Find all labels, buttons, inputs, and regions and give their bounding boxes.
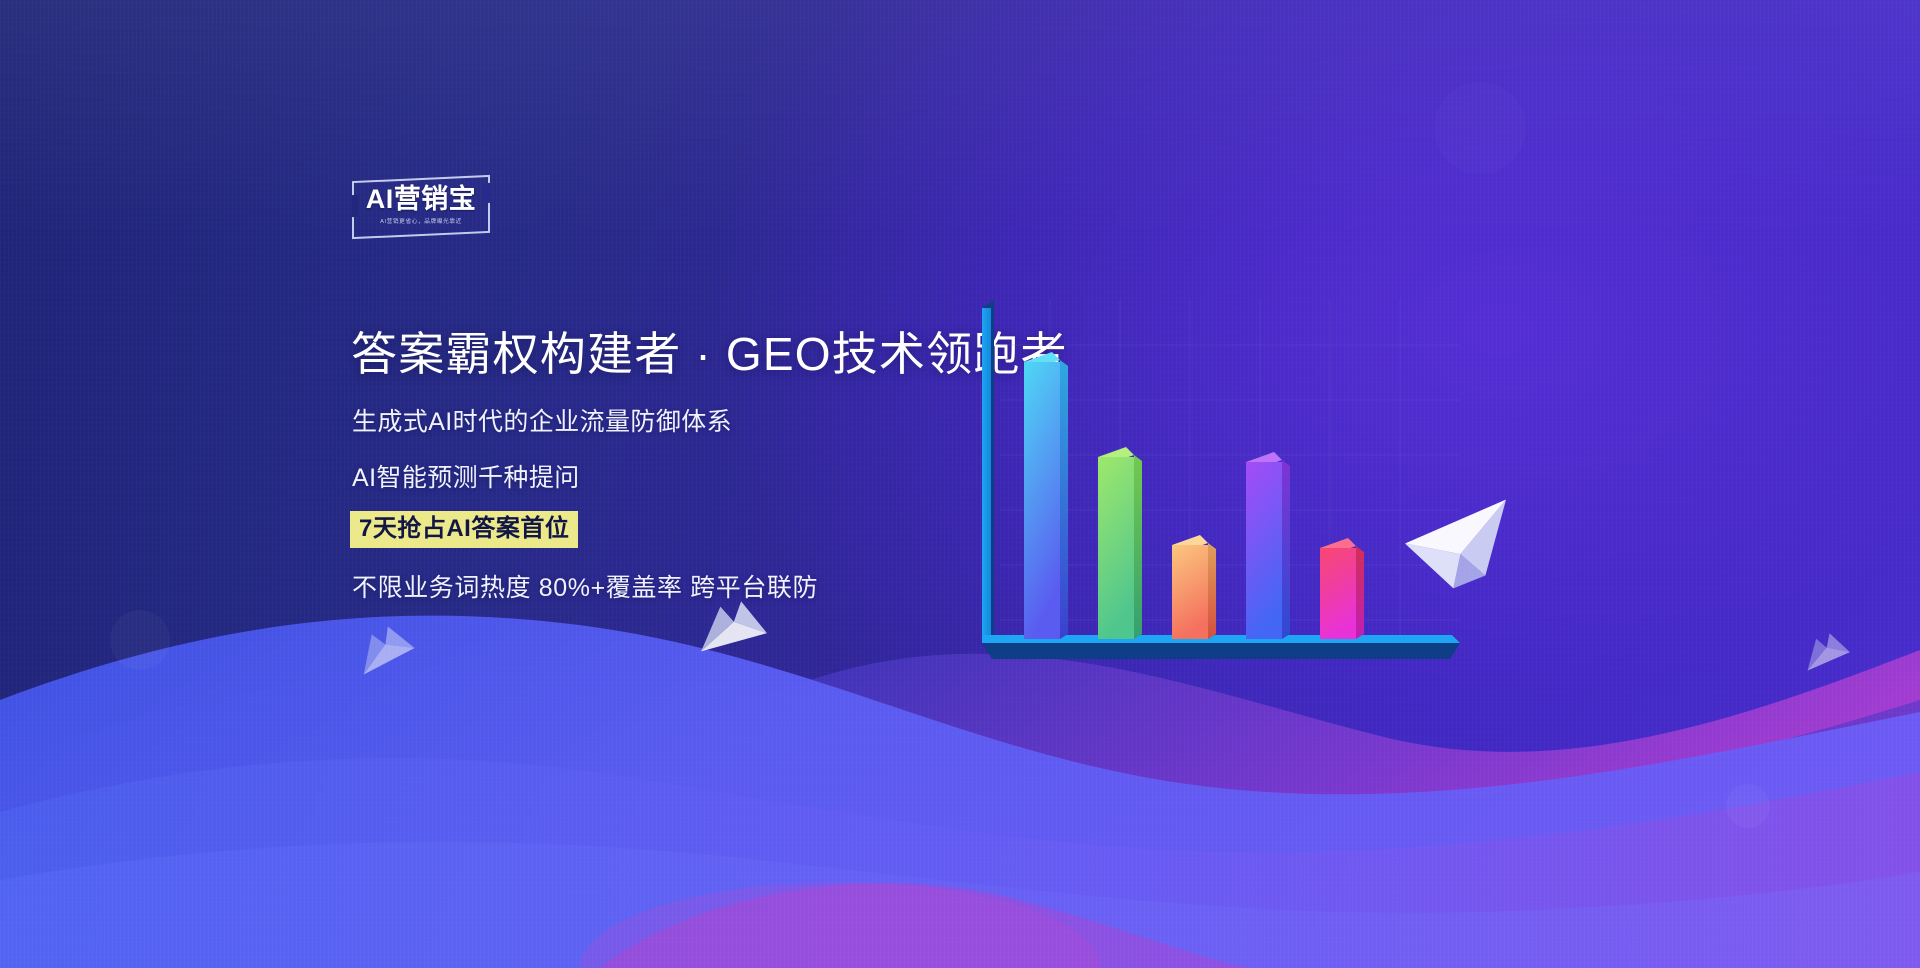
bar-5 bbox=[1320, 538, 1364, 639]
bar-4 bbox=[1246, 452, 1290, 639]
chart-y-axis bbox=[982, 300, 994, 643]
bar-3 bbox=[1172, 535, 1216, 639]
hero-banner: AI营销宝 AI营销更省心，品牌曝光靠近 答案霸权构建者 · GEO技术领跑者 … bbox=[0, 0, 1920, 968]
hero-subtitle-1: 生成式AI时代的企业流量防御体系 bbox=[352, 402, 732, 438]
logo-wordmark: AI营销宝 bbox=[352, 184, 490, 214]
hero-highlight-text: 7天抢占AI答案首位 bbox=[359, 515, 569, 543]
decor-circle bbox=[1726, 784, 1770, 828]
chart-bars bbox=[1024, 352, 1364, 639]
bar-1 bbox=[1024, 352, 1068, 639]
brand-logo[interactable]: AI营销宝 AI营销更省心，品牌曝光靠近 bbox=[352, 178, 490, 236]
hero-subtitle-2: AI智能预测千种提问 bbox=[352, 458, 580, 494]
decor-circle bbox=[1434, 82, 1526, 174]
bar-chart-illustration bbox=[960, 290, 1480, 680]
hero-subtitle-4: 不限业务词热度 80%+覆盖率 跨平台联防 bbox=[352, 568, 818, 604]
paper-plane-icon bbox=[1801, 630, 1852, 671]
paper-plane-icon bbox=[353, 621, 418, 674]
chart-grid bbox=[1000, 300, 1460, 645]
bar-2 bbox=[1098, 447, 1142, 639]
paper-plane-icon bbox=[698, 600, 768, 652]
decor-circle bbox=[110, 610, 170, 670]
logo-tagline: AI营销更省心，品牌曝光靠近 bbox=[355, 216, 486, 225]
hero-highlight-badge: 7天抢占AI答案首位 bbox=[350, 511, 578, 548]
